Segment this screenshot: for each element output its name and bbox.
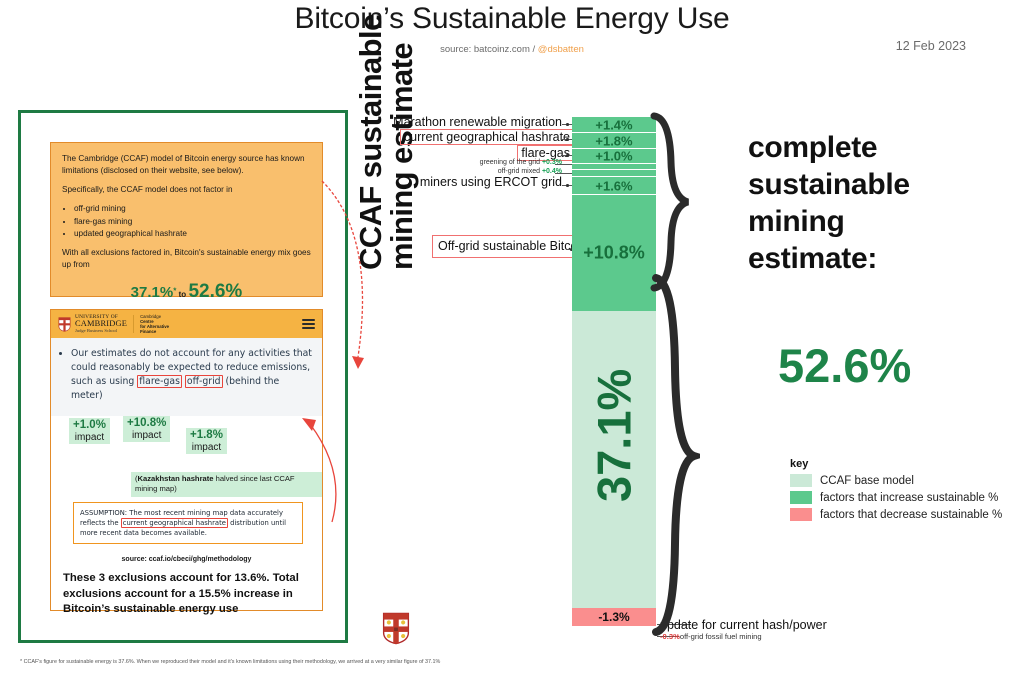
exclusions-conclusion: These 3 exclusions account for 13.6%. To…: [63, 571, 315, 618]
badge-label: impact: [127, 430, 166, 441]
bar-segment-ccaf-base: 37.1%: [572, 311, 656, 608]
limitations-bullet: updated geographical hashrate: [74, 228, 311, 240]
limitations-bullet: flare-gas mining: [74, 216, 311, 228]
complete-estimate-heading: complete sustainable mining estimate:: [748, 130, 910, 278]
flare-gas-highlight: flare-gas: [137, 375, 182, 388]
assumption-box: ASSUMPTION: The most recent mining map d…: [73, 502, 303, 544]
bar-segment-ercot: +1.6%: [572, 177, 656, 195]
limitations-bullet: off-grid mining: [74, 203, 311, 215]
segment-value: +1.0%: [572, 149, 656, 164]
header-divider: [133, 315, 134, 333]
leader-dot: [566, 138, 569, 141]
uni-line-3: Judge Business School: [75, 329, 127, 334]
legend-label: CCAF base model: [820, 475, 914, 487]
cambridge-university-name: UNIVERSITY OF CAMBRIDGE Judge Business S…: [75, 315, 127, 333]
limitations-orange-box: The Cambridge (CCAF) model of Bitcoin en…: [50, 142, 323, 297]
segment-value: -1.3%: [572, 610, 656, 624]
chart-legend: key CCAF base model factors that increas…: [790, 458, 1002, 525]
date-stamp: 12 Feb 2023: [896, 39, 966, 53]
bar-label-greening-of-the-grid: greening of the grid +0.3%: [480, 159, 562, 166]
bar-label-current-geographical-hashrate: current geographical hashrate: [400, 129, 574, 145]
badge-label: impact: [190, 442, 223, 453]
off-grid-highlight: off-grid: [185, 375, 223, 388]
badge-value: +10.8%: [127, 417, 166, 430]
limitations-para-1: The Cambridge (CCAF) model of Bitcoin en…: [62, 153, 311, 177]
source-attribution: source: batcoinz.com / @dsbatten: [0, 44, 1024, 55]
impact-badges-group: +1.0% impact +10.8% impact +1.8% impact …: [51, 416, 322, 508]
legend-item-decrease: factors that decrease sustainable %: [790, 508, 1002, 521]
bar-segment-flare-gas: +1.0%: [572, 149, 656, 164]
bar-segment-marathon: +1.4%: [572, 117, 656, 133]
estimates-bullet-list: Our estimates do not account for any act…: [71, 347, 313, 403]
to-percent-value: 52.6%: [188, 281, 242, 302]
bar-segment-off-grid-sustainable: +10.8%: [572, 195, 656, 311]
leader-line: [555, 173, 572, 174]
legend-item-increase: factors that increase sustainable %: [790, 491, 1002, 504]
badge-label: impact: [73, 432, 106, 443]
kz-note-bold: Kazakhstan hashrate: [138, 474, 214, 483]
bar-segment-update-hash-power: -1.3%: [572, 608, 656, 626]
segment-value: +1.8%: [572, 133, 656, 148]
cambridge-card-header: UNIVERSITY OF CAMBRIDGE Judge Business S…: [51, 310, 322, 338]
leader-line: [555, 164, 572, 165]
segment-value: +1.4%: [572, 117, 656, 132]
cambridge-crest-icon: [58, 317, 71, 332]
leader-dot: [566, 154, 569, 157]
from-to-percent-line: 37.1%* to 52.6%: [62, 278, 311, 306]
brace-bottom-base: [648, 272, 700, 640]
limitations-para-3: With all exclusions factored in, Bitcoin…: [62, 247, 311, 271]
legend-label: factors that decrease sustainable %: [820, 509, 1002, 521]
ccaf-wordmark: Cambridge Centre for Alternative Finance: [140, 314, 169, 334]
impact-badge-flare-gas: +1.0% impact: [69, 418, 110, 444]
leader-dot: [566, 123, 569, 126]
stacked-bar-chart: +1.4% +1.8% +1.0% +1.6% +10.8% 37.1% -1.…: [572, 117, 656, 637]
cambridge-source-url[interactable]: source: ccaf.io/cbeci/ghg/methodology: [51, 556, 322, 563]
footnote-star: *: [173, 286, 176, 295]
bar-label-miners-using-ercot-grid: miners using ERCOT grid: [420, 175, 562, 189]
segment-value: +10.8%: [572, 243, 656, 264]
bar-label-off-grid-mixed: off-grid mixed +0.4%: [498, 168, 562, 175]
legend-item-base: CCAF base model: [790, 474, 1002, 487]
to-word: to: [179, 290, 187, 299]
legend-swatch-decrease: [790, 508, 812, 521]
offgrid-mixed-label-text: off-grid mixed: [498, 168, 540, 175]
impact-badge-kazakhstan: +1.8% impact: [186, 428, 227, 454]
segment-value: +1.6%: [572, 178, 656, 193]
estimates-bullet: Our estimates do not account for any act…: [71, 347, 313, 403]
left-explainer-panel: The Cambridge (CCAF) model of Bitcoin en…: [18, 110, 348, 643]
kazakhstan-hashrate-note: (Kazakhstan hashrate halved since last C…: [131, 472, 322, 497]
bar-segment-off-grid-mixed: [572, 170, 656, 177]
leader-dot: [566, 184, 569, 187]
legend-swatch-base: [790, 474, 812, 487]
cambridge-website-screenshot: UNIVERSITY OF CAMBRIDGE Judge Business S…: [50, 309, 323, 611]
limitations-para-2: Specifically, the CCAF model does not fa…: [62, 184, 311, 196]
cambridge-crest-icon: [382, 612, 410, 645]
current-geographical-hashrate-highlight: current geographical hashrate: [121, 518, 228, 528]
ccaf-line-4: Finance: [140, 329, 169, 334]
hamburger-menu-icon[interactable]: [302, 317, 315, 331]
badge-value: +1.0%: [73, 419, 106, 432]
legend-label: factors that increase sustainable %: [820, 492, 998, 504]
limitations-bullet-list: off-grid mining flare-gas mining updated…: [74, 203, 311, 241]
bar-segment-geographical-hashrate: +1.8%: [572, 133, 656, 149]
page-title: Bitcoin’s Sustainable Energy Use: [0, 2, 1024, 36]
segment-value: 37.1%: [587, 418, 642, 502]
impact-badge-off-grid: +10.8% impact: [123, 416, 170, 442]
bar-label-marathon-renewable-migration: Marathon renewable migration: [393, 115, 562, 129]
legend-title: key: [790, 458, 1002, 470]
complete-estimate-value: 52.6%: [778, 338, 911, 393]
from-percent-value: 37.1%: [131, 284, 174, 301]
legend-swatch-increase: [790, 491, 812, 504]
source-handle[interactable]: @dsbatten: [538, 44, 584, 55]
cambridge-card-body: Our estimates do not account for any act…: [51, 338, 322, 416]
footnote: * CCAF's figure for sustainable energy i…: [20, 659, 440, 665]
badge-value: +1.8%: [190, 429, 223, 442]
greening-label-text: greening of the grid: [480, 159, 540, 166]
brace-top-increase: [648, 112, 694, 292]
